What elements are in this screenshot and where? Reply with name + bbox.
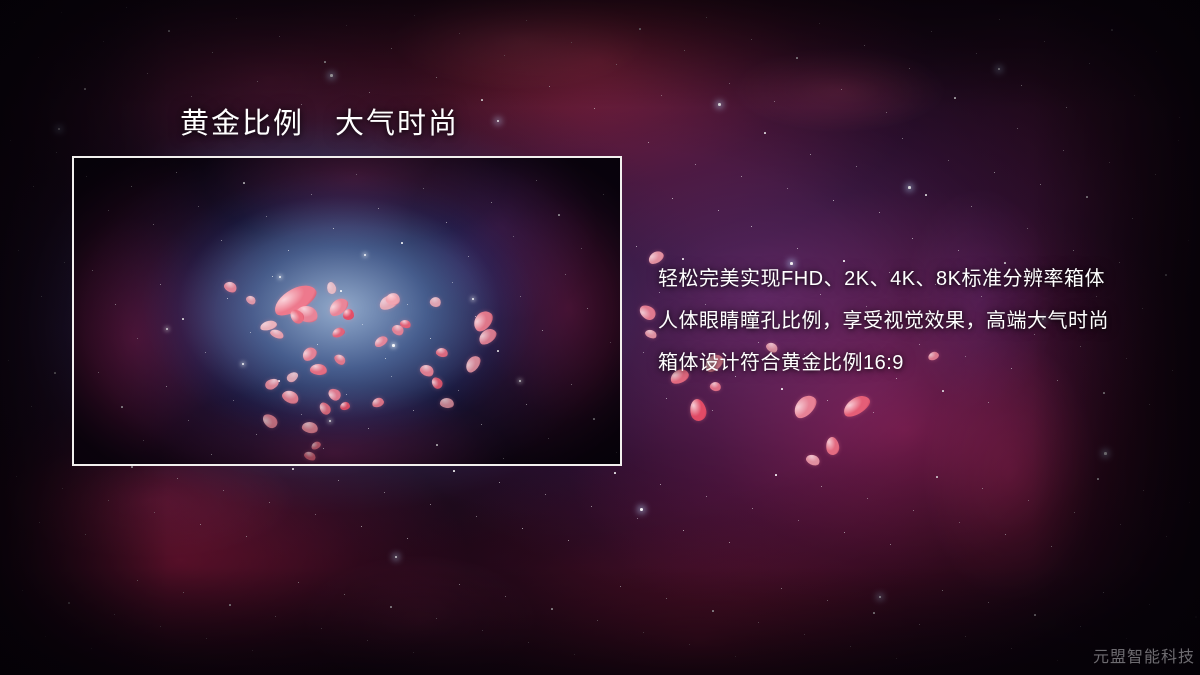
presentation-slide: 黄金比例 大气时尚 轻松完美实现FHD、2K、4K、8K标准分辨率箱体 人体眼睛… xyxy=(0,0,1200,675)
watermark: 元盟智能科技 xyxy=(1093,643,1195,667)
nebula-petals-video-frame[interactable] xyxy=(72,156,622,466)
body-line-1: 轻松完美实现FHD、2K、4K、8K标准分辨率箱体 xyxy=(658,258,1178,300)
body-line-3: 箱体设计符合黄金比例16:9 xyxy=(658,342,1178,384)
video-frame-vignette xyxy=(74,158,620,464)
body-text-block: 轻松完美实现FHD、2K、4K、8K标准分辨率箱体 人体眼睛瞳孔比例，享受视觉效… xyxy=(658,258,1178,384)
body-line-2: 人体眼睛瞳孔比例，享受视觉效果，高端大气时尚 xyxy=(658,300,1178,342)
page-title: 黄金比例 大气时尚 xyxy=(180,100,459,142)
